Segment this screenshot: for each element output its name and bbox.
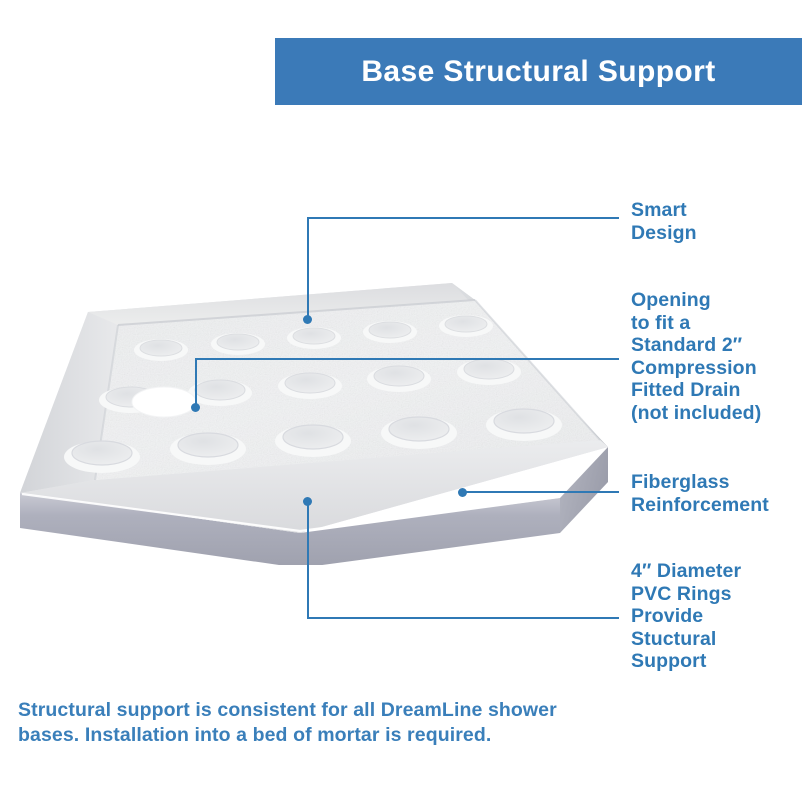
pvc-ring [457, 359, 521, 385]
pvc-ring [134, 339, 188, 361]
page-title: Base Structural Support [361, 55, 715, 89]
callout-smart-design: Smart Design [631, 199, 697, 244]
pvc-ring [278, 373, 342, 399]
infographic-canvas: Base Structural Support [0, 0, 806, 806]
pvc-ring [381, 417, 457, 449]
leader-line-pvc-vertical [307, 501, 309, 618]
leader-line-drain-horizontal [195, 358, 619, 360]
pvc-ring [170, 433, 246, 465]
pvc-ring [188, 380, 252, 406]
callout-drain-opening: Opening to fit a Standard 2″ Compression… [631, 289, 761, 424]
pvc-ring [211, 333, 265, 355]
shower-base-illustration [0, 265, 620, 565]
pvc-ring [367, 366, 431, 392]
callout-fiberglass-reinforcement: Fiberglass Reinforcement [631, 471, 769, 516]
pvc-ring [363, 321, 417, 343]
pvc-ring [64, 441, 140, 473]
pvc-ring [486, 409, 562, 441]
leader-line-pvc-horizontal [307, 617, 619, 619]
pvc-ring [275, 425, 351, 457]
callout-pvc-rings: 4″ Diameter PVC Rings Provide Stuctural … [631, 560, 741, 673]
footer-caption: Structural support is consistent for all… [18, 698, 558, 748]
pvc-ring [439, 315, 493, 337]
header-banner: Base Structural Support [275, 38, 802, 105]
drain-opening [132, 387, 196, 417]
leader-line-fiberglass-horizontal [462, 491, 619, 493]
base-right-side [560, 447, 608, 533]
leader-line-smart-design-vertical [307, 218, 309, 320]
leader-line-smart-design-horizontal [307, 217, 619, 219]
pvc-ring [287, 327, 341, 349]
leader-line-drain-vertical [195, 359, 197, 407]
